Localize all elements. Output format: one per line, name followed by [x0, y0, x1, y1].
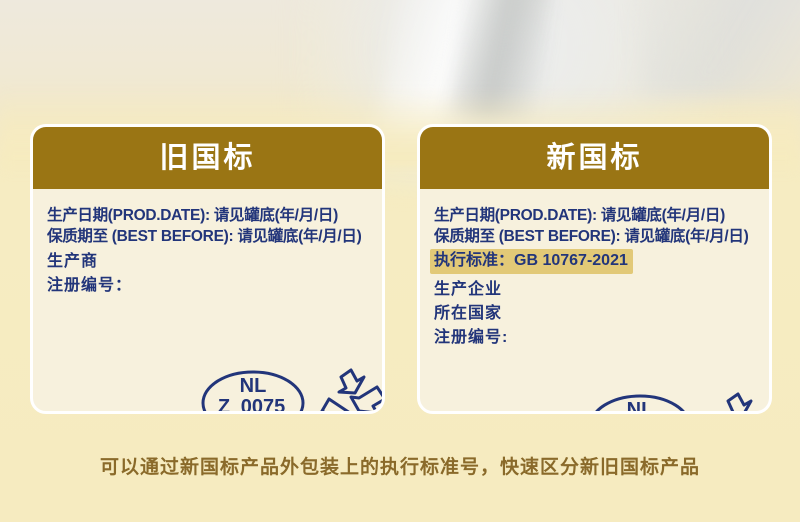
card-header-new: 新国标 [420, 127, 769, 189]
registration-number-label-new: 注册编号: [434, 326, 769, 350]
certification-marks-svg-old: NL Z 0075 EC [201, 365, 385, 414]
prod-date-line-new: 生产日期(PROD.DATE): 请见罐底(年/月/日) [434, 205, 769, 226]
best-before-line-new: 保质期至 (BEST BEFORE): 请见罐底(年/月/日) [434, 226, 769, 247]
execution-standard-highlight: 执行标准：GB 10767-2021 [430, 249, 633, 274]
label-stack-new: 生产企业 所在国家 注册编号: [434, 278, 769, 350]
svg-text:0075: 0075 [241, 396, 286, 414]
card-new-standard: 新国标 生产日期(PROD.DATE): 请见罐底(年/月/日) 保质期至 (B… [417, 124, 772, 414]
recycle-icon-new [709, 394, 772, 414]
registration-number-label-old: 注册编号： [47, 274, 382, 298]
producer-enterprise-label: 生产企业 [434, 278, 769, 302]
caption-text: 可以通过新国标产品外包装上的执行标准号，快速区分新旧国标产品 [0, 452, 800, 479]
manufacturer-label-old: 生产商 [47, 250, 382, 274]
card-header-old: 旧国标 [33, 127, 382, 189]
card-body-old: 生产日期(PROD.DATE): 请见罐底(年/月/日) 保质期至 (BEST … [33, 189, 382, 414]
svg-text:NL: NL [240, 375, 267, 397]
card-old-standard: 旧国标 生产日期(PROD.DATE): 请见罐底(年/月/日) 保质期至 (B… [30, 124, 385, 414]
card-title-old: 旧国标 [159, 144, 255, 173]
nl-ec-oval-stamp-old: NL Z 0075 EC [203, 372, 303, 414]
certification-marks-svg-new: NL Z 0075 EC [588, 389, 772, 414]
prod-date-line-old: 生产日期(PROD.DATE): 请见罐底(年/月/日) [47, 205, 382, 226]
marks-group-new: NL Z 0075 EC [588, 389, 772, 414]
label-stack-old: 生产商 注册编号： [47, 250, 382, 298]
execution-standard-row: 执行标准：GB 10767-2021 [434, 247, 769, 275]
card-body-new: 生产日期(PROD.DATE): 请见罐底(年/月/日) 保质期至 (BEST … [420, 189, 769, 414]
card-title-new: 新国标 [546, 144, 642, 173]
svg-text:NL: NL [627, 399, 654, 414]
nl-ec-oval-stamp-new: NL Z 0075 EC [590, 396, 690, 414]
svg-text:Z: Z [218, 396, 230, 414]
recycle-icon-old [322, 370, 385, 414]
comparison-cards: 旧国标 生产日期(PROD.DATE): 请见罐底(年/月/日) 保质期至 (B… [0, 0, 800, 522]
best-before-line-old: 保质期至 (BEST BEFORE): 请见罐底(年/月/日) [47, 226, 382, 247]
country-label: 所在国家 [434, 302, 769, 326]
marks-group-old: NL Z 0075 EC [201, 365, 385, 414]
